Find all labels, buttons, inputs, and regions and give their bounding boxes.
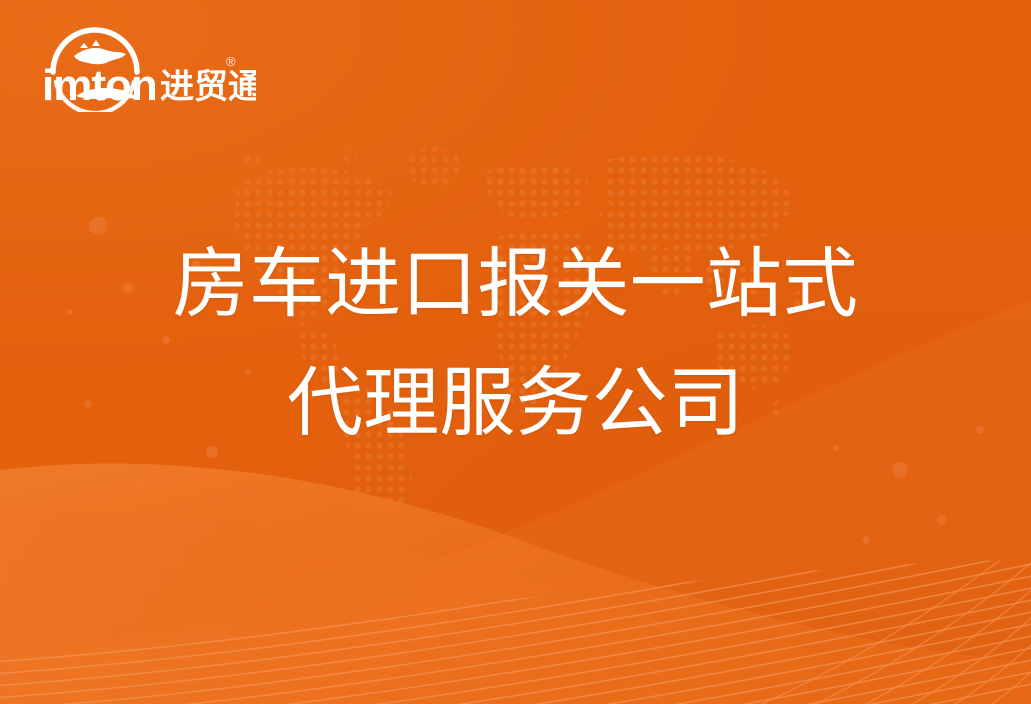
poster-canvas: imton 进贸通 ® 房车进口报关一站式 代理服务公司	[0, 0, 1031, 704]
page-title: 房车进口报关一站式 代理服务公司	[0, 236, 1031, 453]
brand-logo[interactable]: imton 进贸通 ®	[36, 26, 256, 112]
logo-latin-text: imton	[42, 61, 157, 110]
title-line-2: 代理服务公司	[0, 355, 1031, 452]
title-line-1: 房车进口报关一站式	[0, 236, 1031, 333]
logo-chinese-text: 进贸通	[160, 68, 256, 106]
registered-trademark-icon: ®	[226, 54, 236, 69]
